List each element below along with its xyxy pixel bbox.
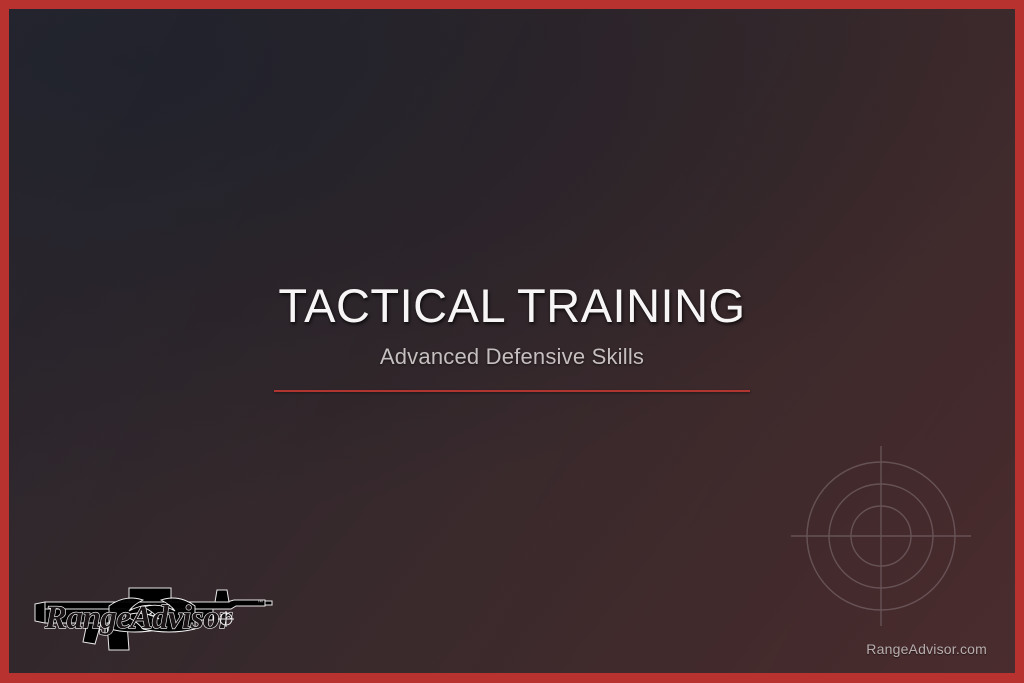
page-title: TACTICAL TRAINING — [9, 281, 1015, 330]
title-block: TACTICAL TRAINING Advanced Defensive Ski… — [9, 281, 1015, 392]
logo-wordmark: RangeAdvisor — [44, 600, 233, 636]
footer-url: RangeAdvisor.com — [866, 641, 987, 657]
slide-canvas: TACTICAL TRAINING Advanced Defensive Ski… — [9, 9, 1015, 673]
logo-tm: ™ — [257, 599, 263, 606]
presentation-slide: TACTICAL TRAINING Advanced Defensive Ski… — [0, 0, 1024, 683]
title-divider — [274, 390, 750, 392]
slide-subtitle: Advanced Defensive Skills — [9, 344, 1015, 370]
rangeadvisor-logo: RangeAdvisor ™ — [31, 576, 273, 654]
crosshair-target-icon — [772, 427, 990, 645]
